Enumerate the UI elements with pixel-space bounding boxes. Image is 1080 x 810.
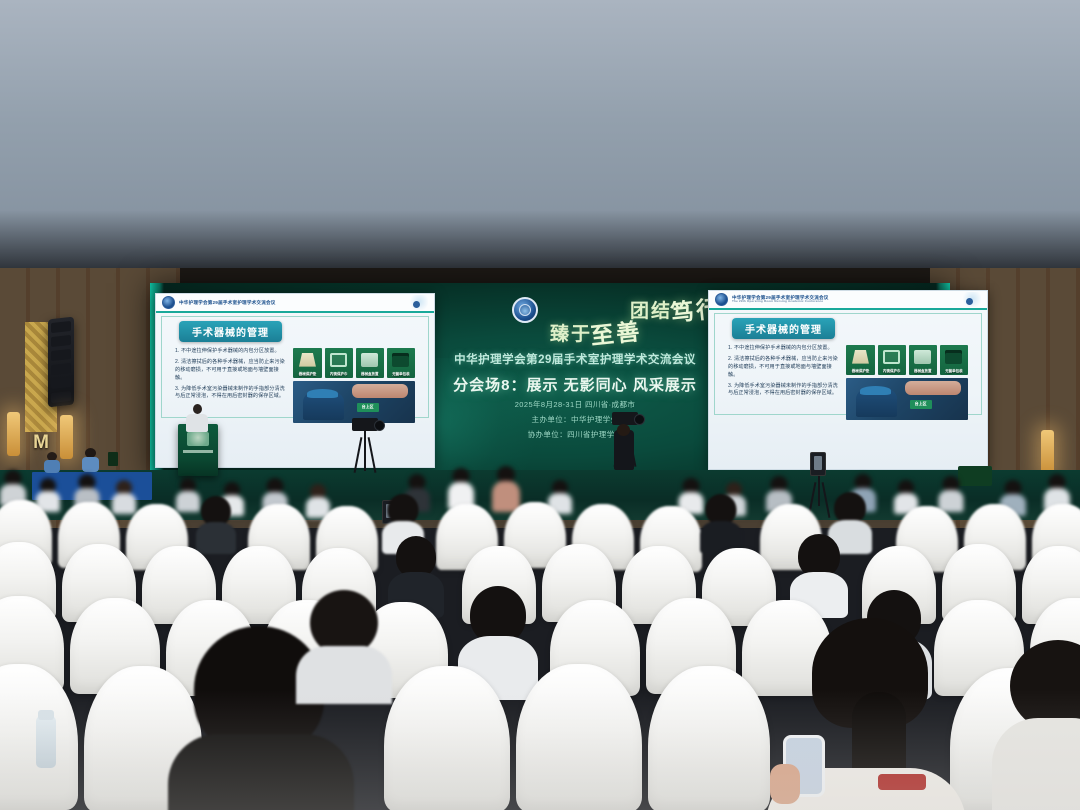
trapezoid-pad-icon (299, 353, 316, 367)
slide-association-logo-icon (162, 296, 175, 309)
slide-header-org-sub: The 29th Operating Room Nursing Academic… (732, 300, 829, 304)
camera-operator-head (617, 424, 630, 436)
podium-nameplate (183, 450, 213, 453)
ceiling (0, 0, 1080, 300)
thumbnail-caption: 内镜保护巾 (330, 372, 348, 377)
sterile-wrap-icon (392, 353, 409, 367)
av-monitor (108, 452, 118, 466)
tripod-legs (364, 431, 366, 471)
sterile-wrap-icon (945, 350, 962, 364)
instrument-tray-icon (361, 353, 378, 367)
video-camera-icon (612, 412, 638, 425)
attendee (700, 494, 742, 552)
attendee (306, 484, 330, 516)
photo-hands (352, 384, 408, 398)
camera-tripod-left (352, 418, 378, 431)
presentation-slide-right: 中华护理学会第29届手术室护理学术交流会议 The 29th Operating… (708, 290, 988, 470)
av-staff-member (44, 452, 60, 472)
slide-title: 手术器械的管理 (732, 318, 835, 339)
attendee-shoulders (992, 718, 1080, 810)
wall-sconce (1041, 430, 1054, 474)
slide-operating-room-photo: 台上区 (846, 378, 968, 420)
equipment-case (958, 466, 992, 486)
slide-title: 手术器械的管理 (179, 321, 282, 342)
photo-surgical-cap (307, 389, 339, 398)
thumbnail-caption: 器械保护垫 (852, 369, 870, 374)
slide-thumbnail: 内镜保护巾 (325, 348, 353, 378)
presenter-body (186, 414, 208, 432)
thumbnail-caption: 器械盒放置 (914, 369, 932, 374)
session-title: 分会场8：展示 无影同心 风采展示 (430, 374, 720, 395)
foreground-attendee-right (1000, 640, 1080, 810)
slide-association-logo-icon (715, 293, 728, 306)
photo-caption-tag: 台上区 (357, 403, 379, 412)
slide-thumbnail: 内镜保护巾 (878, 345, 906, 375)
co-organizer-line: 协办单位：四川省护理学会 (430, 429, 720, 440)
slide-operating-room-photo: 台上区 (293, 381, 415, 423)
conference-name: 中华护理学会第29届手术室护理学术交流会议 (430, 351, 720, 367)
attendee (196, 496, 236, 552)
wall-sconce (60, 415, 73, 459)
video-camera-icon (352, 418, 378, 431)
bottle-cap (38, 710, 54, 720)
attendee (36, 478, 60, 510)
slide-thumbnail: 无菌单包装 (387, 348, 415, 378)
slide-header-org: 中华护理学会第29届手术室护理学术交流会议 (179, 300, 276, 306)
thumbnail-caption: 无菌单包装 (945, 369, 963, 374)
photo-surgical-cap (860, 386, 892, 395)
slide-header: 中华护理学会第29届手术室护理学术交流会议 The 29th Operating… (709, 291, 987, 310)
seated-attendee (296, 590, 392, 700)
line-array-speaker (48, 317, 74, 408)
frame-cloth-icon (883, 350, 900, 364)
attendee-standing (448, 468, 474, 508)
wall-sconce (7, 412, 20, 456)
camera-tripod-center (612, 412, 638, 425)
chair (384, 666, 510, 810)
slide-panda-mark-icon (959, 292, 981, 307)
presenter-head (193, 404, 202, 414)
banner-letter: M (25, 432, 57, 454)
slide-thumbnail: 器械保护垫 (293, 348, 321, 378)
calligraphy-slogan: 团结笃行 (630, 296, 720, 323)
slide-thumbnail: 无菌单包装 (940, 345, 968, 375)
phone-tripod-rig (810, 452, 826, 476)
slide-thumbnail: 器械保护垫 (846, 345, 874, 375)
camera-operator (614, 430, 634, 470)
photo-hands (905, 381, 961, 395)
backdrop-content: 团结笃行 臻于至善 中华护理学会第29届手术室护理学术交流会议 分会场8：展示 … (430, 296, 720, 446)
chair (516, 664, 642, 810)
conference-date-location: 2025年8月28-31日 四川省·成都市 (430, 399, 720, 410)
conference-hall-photo: M 团结笃行 (0, 0, 1080, 810)
attendee-standing (492, 466, 520, 510)
trapezoid-pad-icon (852, 350, 869, 364)
av-staff-member (82, 448, 99, 472)
attendee (112, 480, 136, 512)
attendee-collar (878, 774, 926, 790)
photo-caption-tag: 台上区 (910, 400, 932, 409)
slogan-part-3: 臻于 (550, 324, 592, 345)
thumbnail-caption: 器械盒放置 (361, 372, 379, 377)
attendee (0, 470, 26, 504)
attendee-hand (770, 764, 800, 804)
slide-thumbnail: 器械盒放置 (909, 345, 937, 375)
organizer-line: 主办单位：中华护理学会 (430, 414, 720, 425)
chair (648, 666, 770, 810)
podium-logo-icon (187, 432, 209, 446)
thumbnail-caption: 无菌单包装 (392, 372, 410, 377)
slide-panda-mark-icon (406, 295, 428, 310)
slogan-part-4: 至善 (589, 313, 643, 351)
tripod-legs (818, 476, 820, 506)
foreground-attendee-with-phone (782, 618, 982, 810)
slide-thumbnail: 器械盒放置 (356, 348, 384, 378)
attendee-shoulders (168, 734, 354, 810)
association-emblem-icon (512, 297, 538, 323)
presenter-at-podium (186, 404, 208, 432)
thumbnail-caption: 内镜保护巾 (883, 369, 901, 374)
thumbnail-caption: 器械保护垫 (299, 372, 317, 377)
water-bottle (36, 716, 56, 768)
slide-header: 中华护理学会第29届手术室护理学术交流会议 (156, 294, 434, 313)
frame-cloth-icon (330, 353, 347, 367)
instrument-tray-icon (914, 350, 931, 364)
attendee (938, 476, 963, 510)
phone-recording-icon[interactable] (810, 452, 826, 476)
